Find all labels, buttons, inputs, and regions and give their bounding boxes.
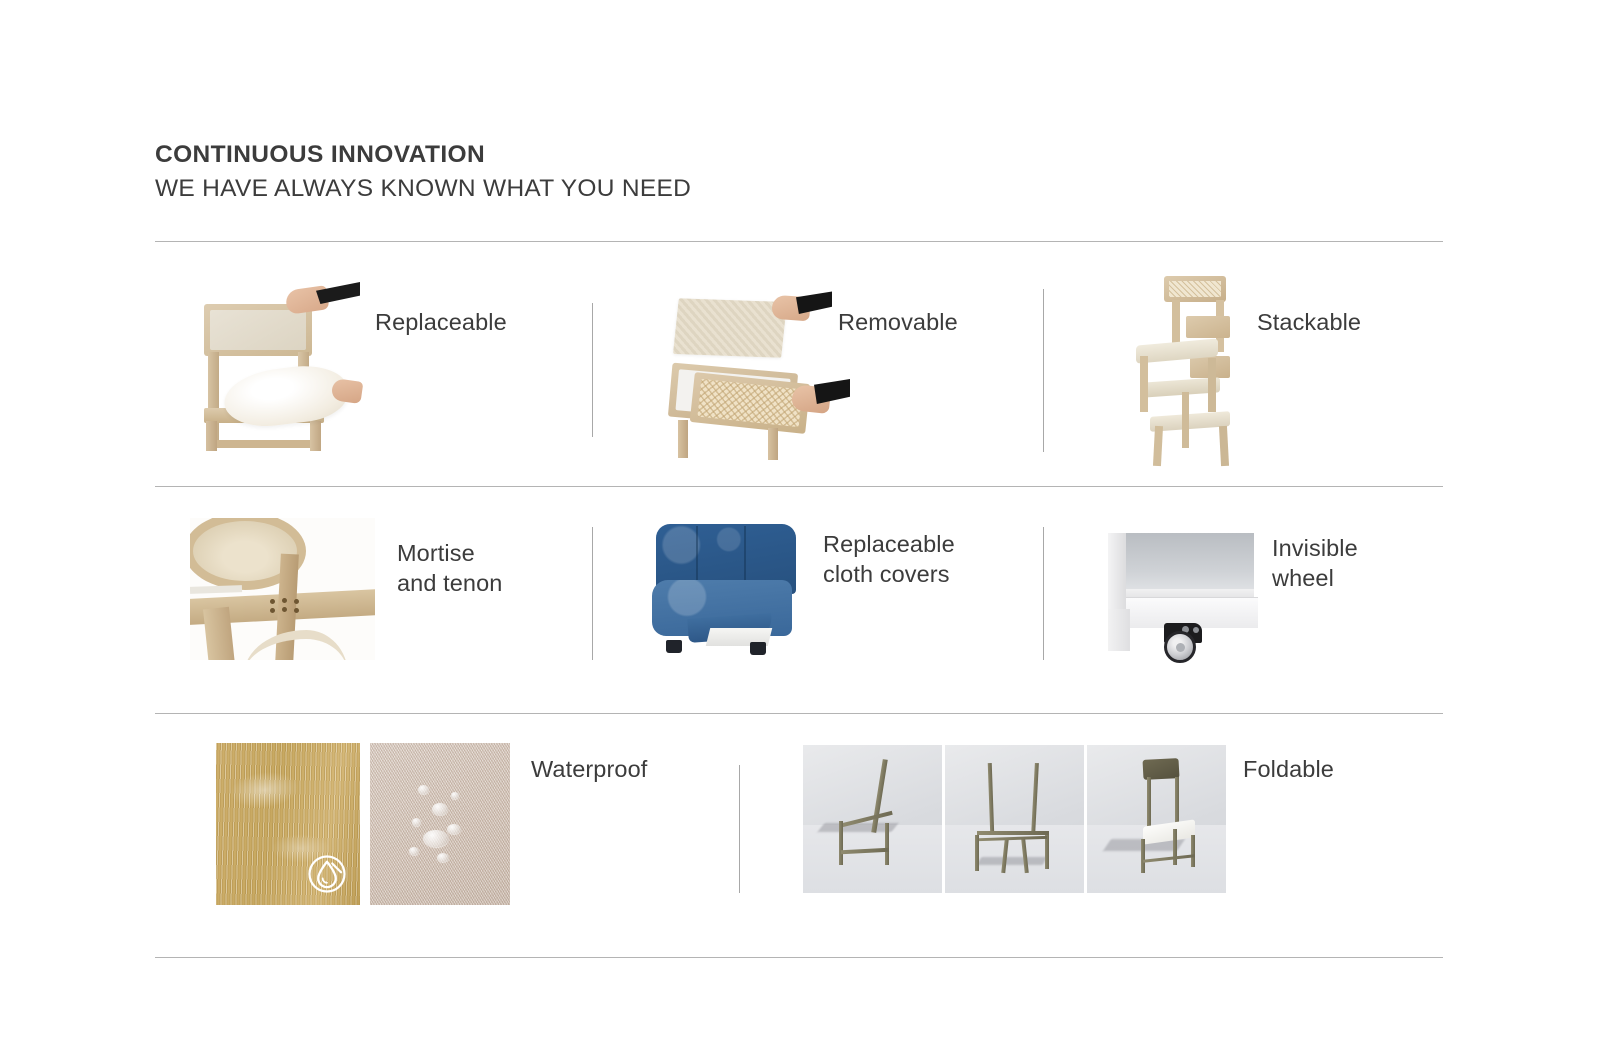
feature-label-removable: Removable (838, 307, 958, 337)
divider-row1-bottom (155, 486, 1443, 487)
chair-shadow (977, 857, 1048, 865)
chair-leg-e (1182, 392, 1189, 448)
water-droplet (432, 803, 448, 815)
armchair-foot-right (750, 642, 766, 655)
dowel-hole (294, 599, 299, 604)
caster-bolt (1193, 627, 1199, 633)
water-droplet (418, 785, 429, 794)
chair-leg-right (768, 428, 778, 460)
photo-floor (803, 825, 942, 893)
top-chair-cane-panel (1169, 281, 1221, 297)
divider-row2-bottom (155, 713, 1443, 714)
waterproof-droplet-icon (306, 853, 348, 895)
dowel-hole (270, 599, 275, 604)
gold-textured-swatch (216, 743, 360, 905)
vertical-divider-row1-1 (592, 303, 593, 437)
slide-header: CONTINUOUS INNOVATION WE HAVE ALWAYS KNO… (155, 138, 691, 206)
chair-leg-c (1153, 426, 1163, 466)
feature-label-foldable: Foldable (1243, 754, 1334, 784)
chair-seat-bar (977, 831, 1049, 835)
feature-image-replaceable (190, 282, 370, 454)
water-droplet (437, 853, 449, 862)
water-droplet (409, 847, 419, 855)
chair-leg-left (206, 421, 217, 451)
chair-backrest-pad (210, 310, 306, 350)
chair-backrest-bar (871, 759, 888, 833)
divider-top (155, 241, 1443, 242)
caster-wheel-hub (1176, 643, 1185, 652)
middle-chair-backrest (1186, 316, 1230, 338)
swatch-highlight (229, 769, 301, 812)
chair-leg-b (1208, 358, 1216, 412)
divider-bottom (155, 957, 1443, 958)
dowel-hole (282, 598, 287, 603)
feature-image-invisible-wheel (1108, 527, 1268, 657)
vertical-divider-row1-2 (1043, 289, 1044, 452)
vertical-divider-row3-1 (739, 765, 740, 893)
feature-label-cloth-covers: Replaceable cloth covers (823, 529, 955, 589)
feature-image-waterproof (216, 743, 510, 905)
feature-image-foldable (803, 745, 1226, 893)
vertical-divider-row2-2 (1043, 527, 1044, 660)
chair-leg-2 (1045, 835, 1049, 869)
top-chair-backrest (1164, 276, 1226, 302)
feature-image-cloth-covers (652, 524, 802, 658)
foldable-photo-1 (803, 745, 942, 893)
feature-label-replaceable: Replaceable (375, 307, 507, 337)
chair-leg-front-right (1191, 835, 1195, 867)
feature-label-waterproof: Waterproof (531, 754, 647, 784)
cabinet-interior (1126, 533, 1254, 595)
chair-leg-a (1140, 356, 1148, 412)
feature-image-stackable (1120, 272, 1280, 467)
fabric-panel (673, 298, 787, 357)
slide-canvas: CONTINUOUS INNOVATION WE HAVE ALWAYS KNO… (0, 0, 1600, 1055)
feature-label-invisible-wheel: Invisible wheel (1272, 533, 1358, 593)
beige-woven-swatch (370, 743, 510, 905)
page-title: CONTINUOUS INNOVATION (155, 138, 691, 172)
chair-back-post-left (1147, 777, 1151, 829)
chair-leg-back (885, 823, 889, 865)
sleeve-shape (814, 378, 850, 404)
water-droplet (447, 824, 461, 834)
foldable-photo-3 (1087, 745, 1226, 893)
water-droplet (412, 818, 421, 826)
cane-weave (697, 379, 802, 427)
foldable-photo-2 (945, 745, 1084, 893)
chair-leg-front (839, 821, 843, 865)
cabinet-corner-notch (1108, 609, 1130, 651)
dowel-hole (270, 608, 275, 613)
feature-label-mortise-and-tenon: Mortise and tenon (397, 538, 502, 598)
dowel-group (268, 598, 318, 616)
vertical-divider-row2-1 (592, 527, 593, 660)
feature-image-mortise-and-tenon (190, 518, 375, 660)
chair-leg-front-left (1141, 839, 1145, 873)
feature-label-stackable: Stackable (1257, 307, 1361, 337)
sleeve-shape (796, 290, 832, 314)
chair-leg-right (310, 421, 321, 451)
armchair-foot-left (666, 640, 682, 653)
water-droplet (451, 792, 459, 799)
chair-stretcher (208, 440, 320, 448)
dowel-hole (282, 607, 287, 612)
dowel-hole (294, 608, 299, 613)
chair-leg-d (1219, 426, 1229, 466)
chair-cushion (221, 361, 351, 432)
chair-leg-back (1173, 829, 1177, 865)
water-droplet (423, 830, 449, 847)
page-subtitle: WE HAVE ALWAYS KNOWN WHAT YOU NEED (155, 172, 691, 206)
chair-back-post-right (1175, 777, 1179, 827)
chair-leg-left (678, 420, 688, 458)
